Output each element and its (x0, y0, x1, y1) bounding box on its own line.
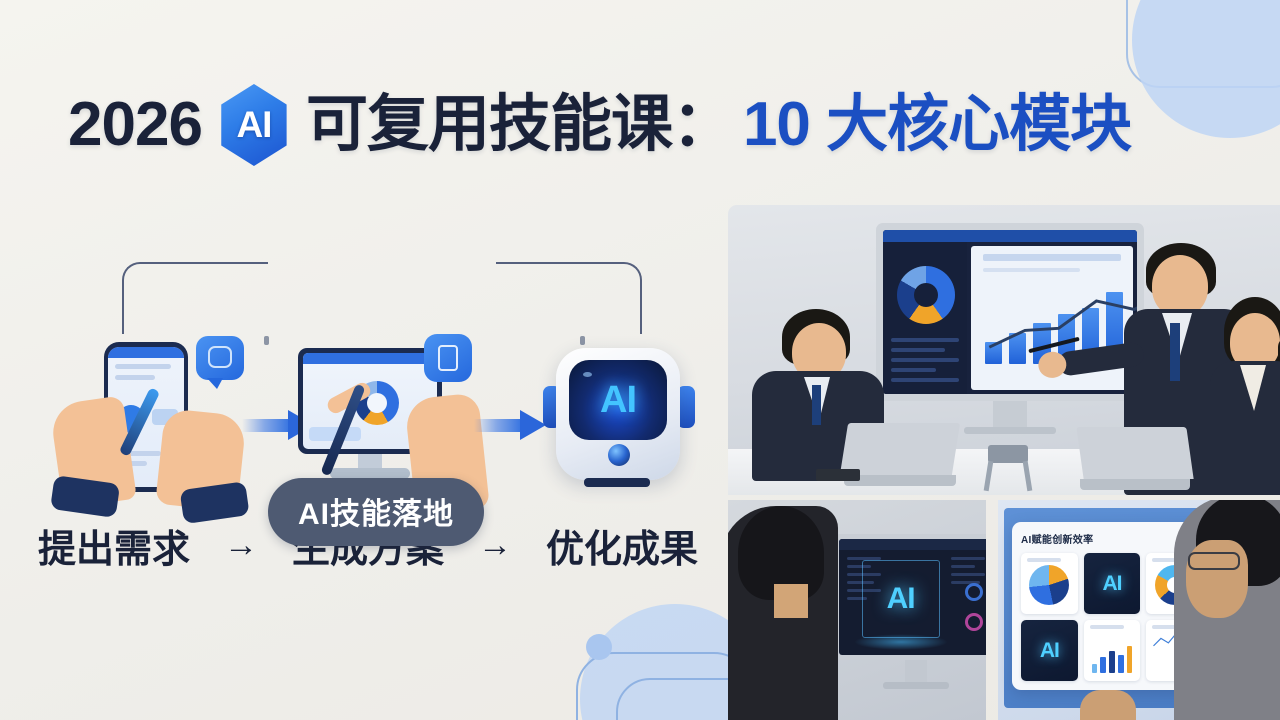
title-year: 2026 (68, 94, 202, 156)
photo-meeting-room-dashboard (728, 205, 1280, 495)
decor-circle-top-right (1132, 0, 1280, 138)
glasses-icon (1188, 552, 1240, 570)
hand-icon (1080, 690, 1136, 720)
step-label-3: 优化成果 (546, 518, 698, 573)
poster-canvas: 2026 AI 可复用技能课： 10 大核心模块 (0, 0, 1280, 720)
bar-chart-icon (1092, 642, 1133, 673)
person-back-view (728, 506, 838, 720)
robot-screen-label: AI (600, 379, 636, 422)
title-highlight: 10 大核心模块 (743, 94, 1131, 156)
laptop-left (844, 423, 956, 486)
robot-eye-icon (608, 444, 630, 466)
pie-chart-card (1021, 553, 1078, 614)
rounded-square-outline-icon (1126, 0, 1280, 88)
chat-bubble-icon (196, 336, 244, 380)
desk-device-icon (980, 445, 1036, 491)
person-seated-right (1210, 297, 1280, 495)
flow-pill-label: AI技能落地 (268, 478, 484, 546)
step-separator-1: → (224, 526, 258, 565)
donut-chart-icon (965, 583, 983, 601)
desk-phone-icon (816, 469, 860, 481)
bracket-connector (122, 262, 642, 334)
ring-icon (965, 613, 983, 631)
flow-node-optimize[interactable]: AI (534, 334, 704, 514)
pie-chart-icon (1029, 565, 1069, 605)
analyst-monitor: AI (834, 534, 986, 689)
tablet-icon (424, 334, 472, 382)
laptop-right (1080, 427, 1190, 490)
title-middle: 可复用技能课： (306, 94, 733, 156)
flow-node-request[interactable] (48, 334, 248, 514)
donut-chart-icon (897, 266, 955, 324)
rounded-square-outline-bottom-icon (576, 652, 752, 720)
ai-hexagon-badge-icon: AI (216, 84, 292, 166)
step-separator-2: → (478, 526, 512, 565)
page-title: 2026 AI 可复用技能课： 10 大核心模块 (68, 84, 1131, 166)
decor-dot-icon (586, 634, 612, 660)
bar-chart-card (1084, 620, 1141, 681)
ai-card-top: AI (1084, 553, 1141, 614)
photo-presentation-board-charts: AI赋能创新效率 AI AI (998, 500, 1280, 720)
step-label-1: 提出需求 (38, 518, 190, 573)
hand-right-icon (155, 408, 247, 512)
ai-robot-icon: AI (556, 348, 680, 480)
photo-analyst-ai-hologram: AI (728, 500, 986, 720)
ai-hologram-icon: AI (862, 560, 940, 638)
ai-badge-label: AI (216, 84, 292, 166)
meeting-monitor (876, 223, 1144, 434)
ai-card-label: AI (1102, 572, 1121, 596)
person-viewer (1174, 500, 1280, 720)
ai-card-label-2: AI (1040, 639, 1059, 663)
ai-card-bottom: AI (1021, 620, 1078, 681)
